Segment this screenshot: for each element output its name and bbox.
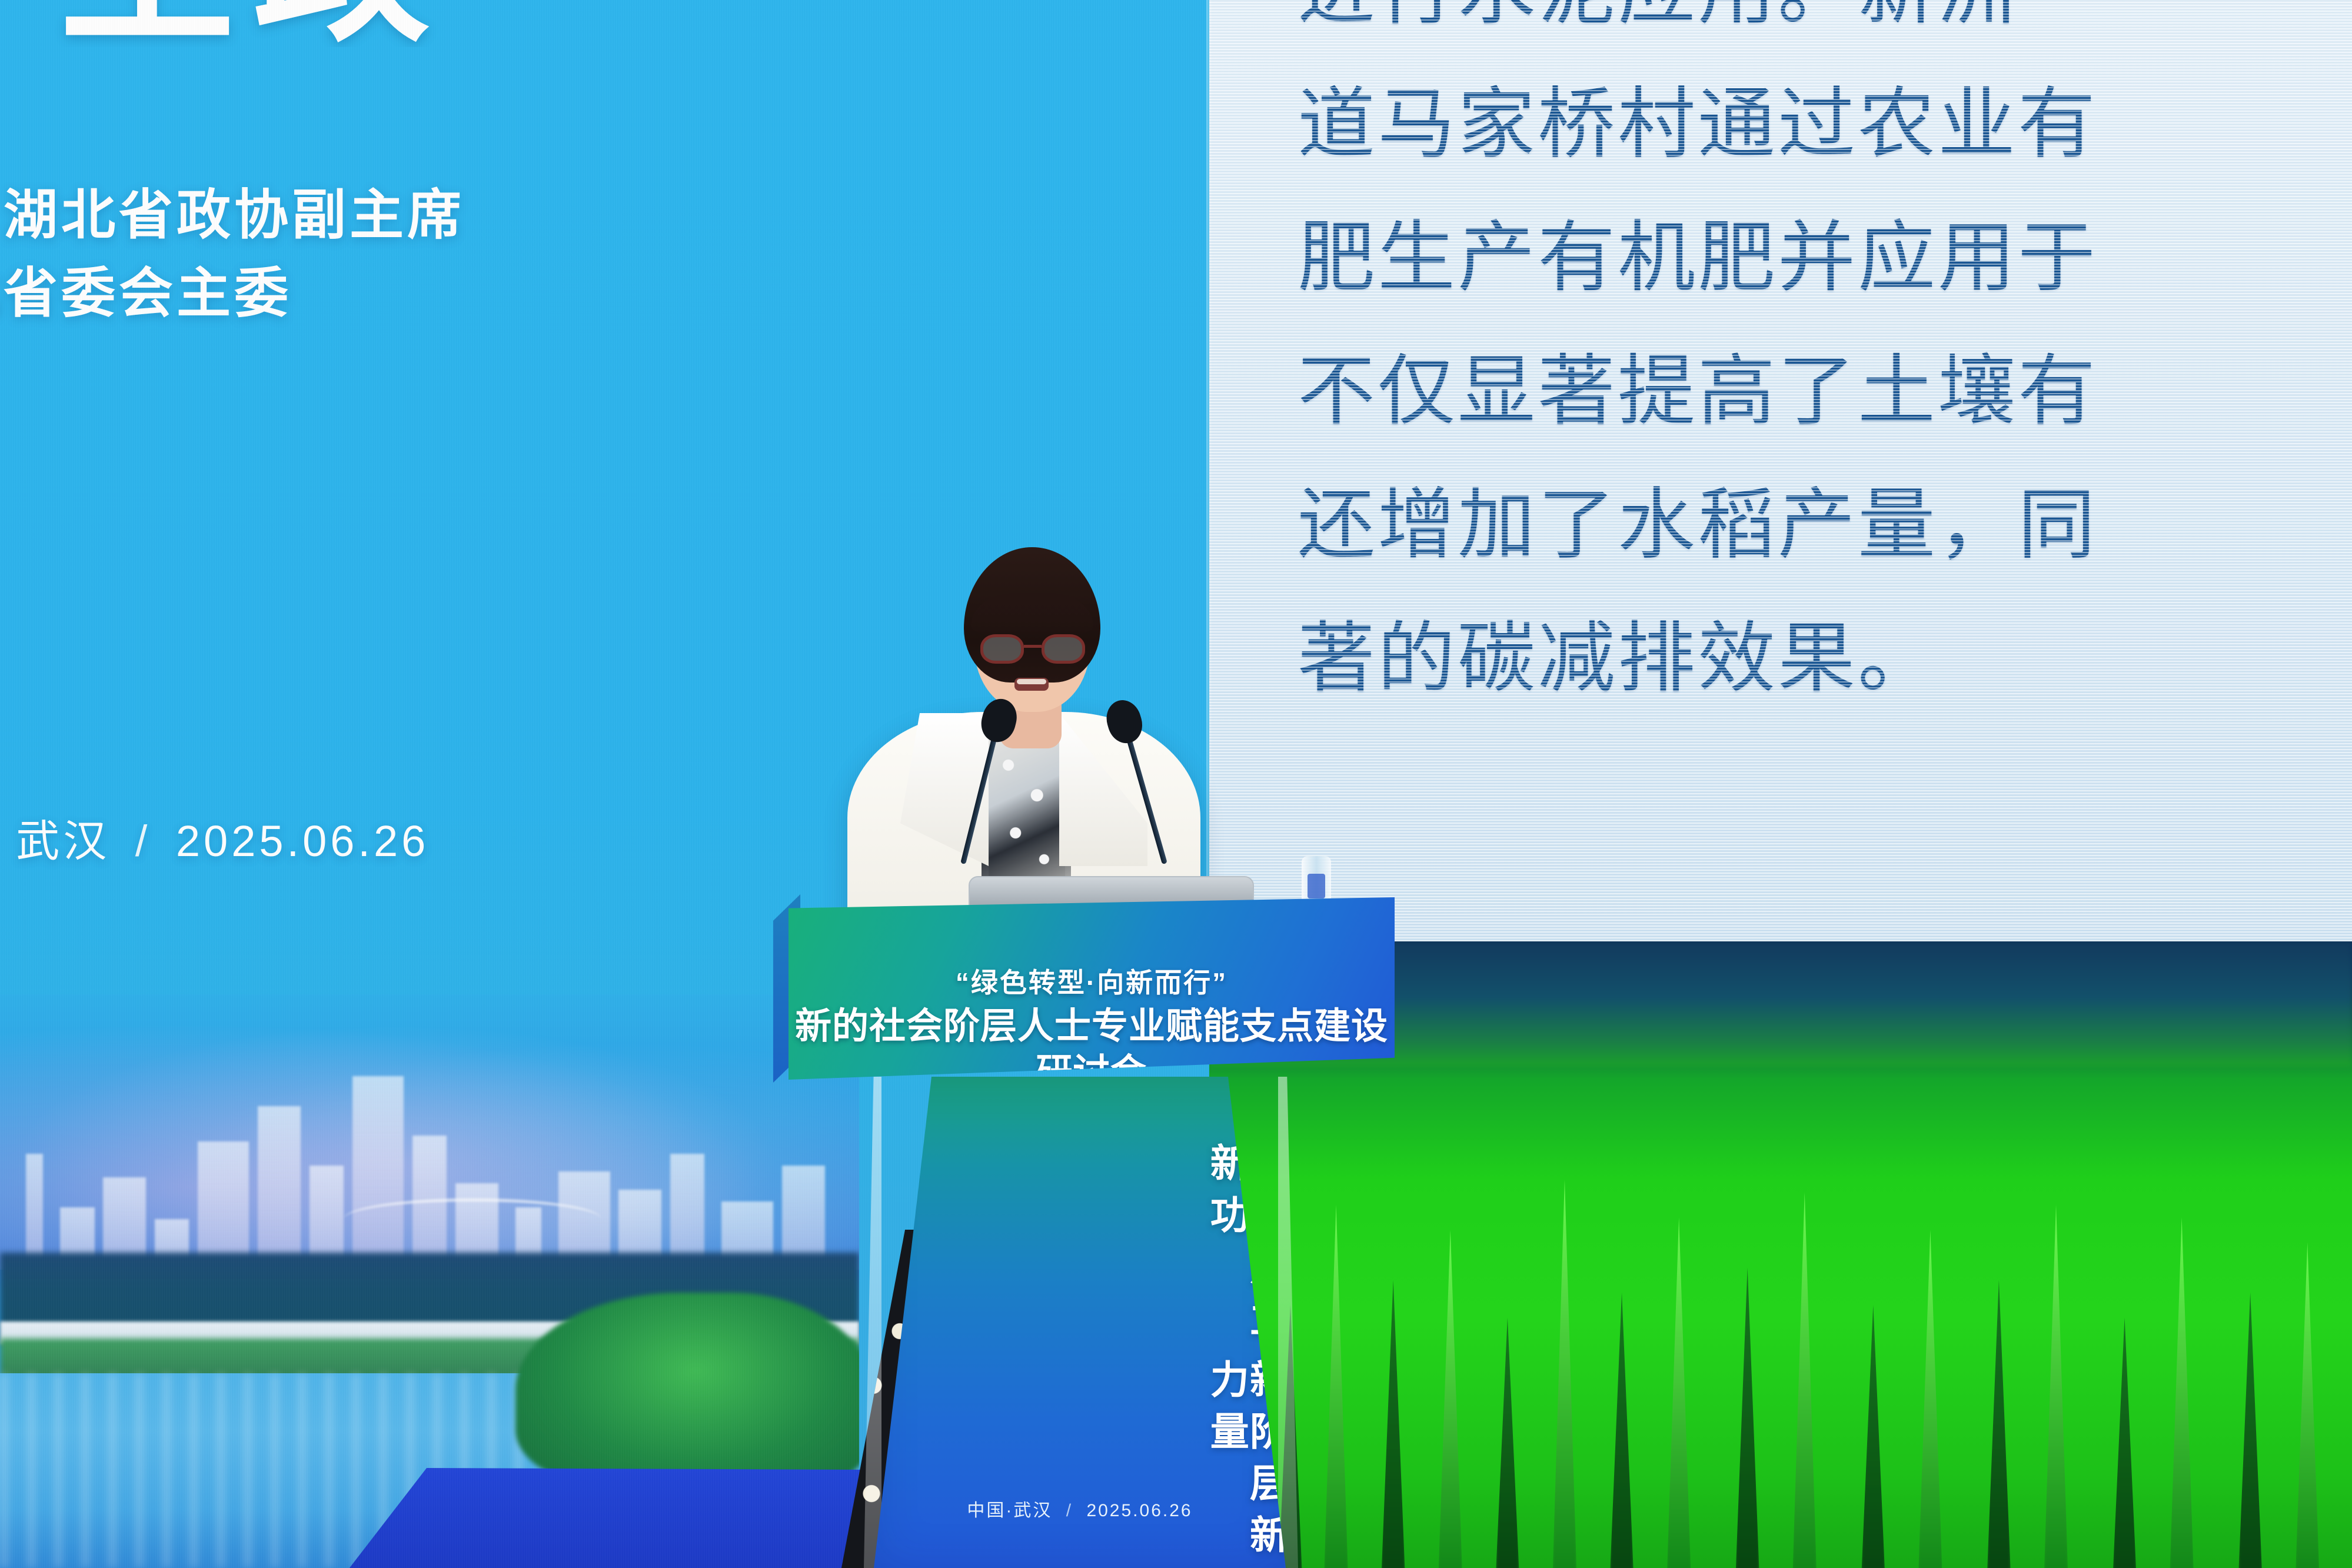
screen-line-2: 道马家桥村通过农业有: [1298, 57, 2352, 191]
backdrop-subtitle-line-2: 湖北省委会主委: [0, 255, 1124, 333]
screen-line-4: 不仅显著提高了土壤有: [1298, 324, 2352, 458]
backdrop-date: 2025.06.26: [176, 817, 429, 865]
speaking-podium: “绿色转型·向新而行” 新的社会阶层人士专业赋能支点建设研讨会 建支点立新功 新…: [765, 883, 1418, 1568]
screen-line-5: 还增加了水稻产量，同: [1298, 458, 2352, 591]
mouth: [1014, 678, 1049, 691]
podium-footer-separator: /: [1059, 1501, 1080, 1520]
backdrop-subtitle-block: 委、湖北省政协副主席 湖北省委会主委: [0, 177, 1124, 334]
screen-line-3: 肥生产有机肥并应用于: [1298, 191, 2352, 324]
podium-footer-date: 2025.06.26: [1086, 1501, 1192, 1520]
lens-right: [1042, 634, 1085, 664]
slogan-column-left: 建支点立新功: [874, 1143, 1286, 1352]
glasses-bridge: [1024, 645, 1042, 648]
backdrop-separator: /: [126, 817, 161, 865]
podium-headline-quoted: “绿色转型·向新而行”: [789, 967, 1395, 999]
lens-left: [980, 634, 1024, 664]
backdrop-subtitle-line-1: 委、湖北省政协副主席: [0, 177, 1124, 255]
podium-front-panel: 建支点立新功 新阶层新力量 中国·武汉 / 2025.06.26: [874, 1077, 1286, 1568]
podium-right-edge: [1278, 1077, 1298, 1568]
backdrop-place: · 武汉: [0, 817, 110, 865]
eyeglasses: [980, 634, 1085, 665]
projection-screen-text: 进行水泥应用。新洲 道马家桥村通过农业有 肥生产有机肥并应用于 不仅显著提高了土…: [1298, 0, 2352, 725]
slogan-column-right: 新阶层新力量: [874, 1359, 1286, 1568]
hair-fringe: [971, 593, 1093, 639]
podium-title-block: “绿色转型·向新而行” 新的社会阶层人士专业赋能支点建设研讨会: [789, 967, 1395, 1095]
podium-footer-place: 中国·武汉: [967, 1501, 1052, 1520]
projection-screen: 进行水泥应用。新洲 道马家桥村通过农业有 肥生产有机肥并应用于 不仅显著提高了土…: [1209, 0, 2352, 941]
backdrop-title-glyphs: 主政: [0, 0, 1209, 47]
podium-footer: 中国·武汉 / 2025.06.26: [874, 1496, 1286, 1522]
screen-line-1: 进行水泥应用。新洲: [1298, 0, 2352, 57]
podium-top-panel: “绿色转型·向新而行” 新的社会阶层人士专业赋能支点建设研讨会: [789, 897, 1395, 1080]
screen-line-6: 著的碳减排效果。: [1298, 591, 2352, 725]
conference-photo-scene: 主政 委、湖北省政协副主席 湖北省委会主委 · 武汉 / 2025.06.26: [0, 0, 2352, 1568]
backdrop-place-date: · 武汉 / 2025.06.26: [0, 806, 688, 869]
podium-left-edge: [864, 1077, 881, 1568]
